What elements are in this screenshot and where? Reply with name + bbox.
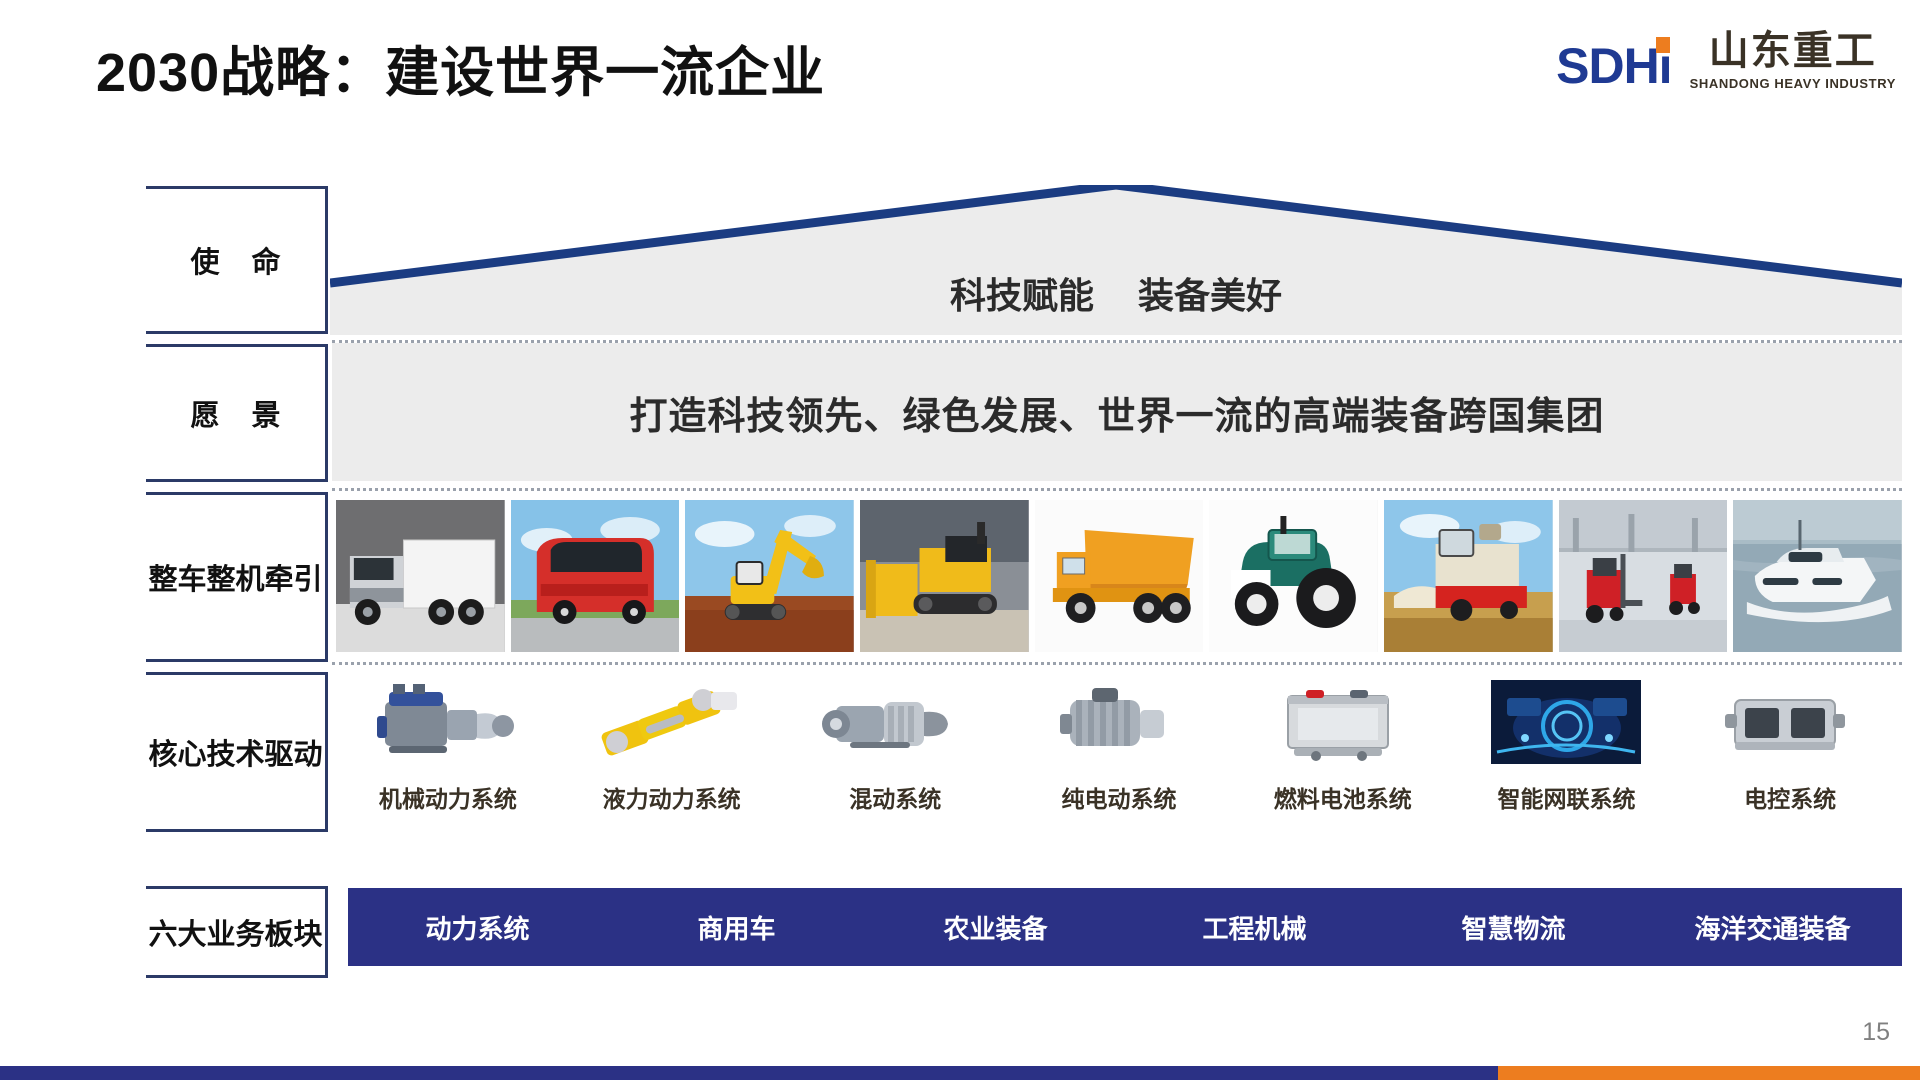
- divider-vision-vehicles: [332, 488, 1902, 491]
- vehicle-image-harvester: [1384, 500, 1553, 652]
- footer-bar-blue: [0, 1066, 1498, 1080]
- logo-sdhi-text: SDHi: [1556, 38, 1671, 94]
- heavy-truck-icon: [336, 500, 505, 652]
- logo-english-name: SHANDONG HEAVY INDUSTRY: [1690, 76, 1896, 91]
- tech-label-mechanical-power: 机械动力系统: [379, 780, 517, 814]
- vehicle-image-tractor: [1209, 500, 1378, 652]
- vehicle-image-coach-bus: [511, 500, 680, 652]
- bracket-vehicle-traction: 整车整机牵引: [146, 492, 328, 662]
- hybrid-powertrain-icon: [806, 672, 984, 772]
- ecu-controller-glyph: [1701, 672, 1879, 772]
- mission-statement: 科技赋能 装备美好: [330, 185, 1902, 335]
- tractor-icon: [1209, 500, 1378, 652]
- segment-power-system[interactable]: 动力系统: [348, 909, 607, 946]
- mining-dump-truck-icon: [1035, 500, 1204, 652]
- electric-motor-icon: [1030, 672, 1208, 772]
- business-segments-bar: 动力系统 商用车 农业装备 工程机械 智慧物流 海洋交通装备: [348, 888, 1902, 966]
- page-number: 15: [1862, 1018, 1890, 1047]
- tech-item-mechanical-power: 机械动力系统: [336, 672, 560, 820]
- forklift-warehouse-icon: [1559, 500, 1728, 652]
- logo-chinese-name: 山东重工: [1709, 30, 1877, 72]
- tech-item-pure-electric: 纯电动系统: [1007, 672, 1231, 820]
- vehicle-image-excavator: [685, 500, 854, 652]
- smart-cockpit-glyph: [1477, 672, 1655, 772]
- tech-item-hybrid: 混动系统: [783, 672, 1007, 820]
- vehicle-image-strip: [336, 500, 1902, 652]
- segment-commercial-vehicle[interactable]: 商用车: [607, 909, 866, 946]
- company-logo: SDHi 山东重工 SHANDONG HEAVY INDUSTRY: [1556, 30, 1896, 91]
- hydraulic-system-icon: [583, 672, 761, 772]
- vehicle-image-heavy-truck: [336, 500, 505, 652]
- tech-label-smart-connected: 智能网联系统: [1497, 780, 1635, 814]
- tech-label-ecu: 电控系统: [1744, 780, 1836, 814]
- electric-motor-glyph: [1030, 672, 1208, 772]
- tech-item-hydraulic-power: 液力动力系统: [560, 672, 784, 820]
- segment-smart-logistics[interactable]: 智慧物流: [1384, 909, 1643, 946]
- slide-canvas: 2030战略：建设世界一流企业 SDHi 山东重工 SHANDONG HEAVY…: [0, 0, 1920, 1080]
- row-label-vehicle-traction: 整车整机牵引: [148, 556, 322, 598]
- mission-phrase-2: 装备美好: [1138, 267, 1282, 319]
- row-label-brackets: 使 命 愿 景 整车整机牵引 核心技术驱动 六大业务板块: [0, 0, 330, 1080]
- logo-orange-dot-icon: [1656, 37, 1670, 53]
- fuel-cell-glyph: [1254, 672, 1432, 772]
- vehicle-image-mining-dump-truck: [1035, 500, 1204, 652]
- diesel-engine-glyph: [359, 672, 537, 772]
- vision-band: 打造科技领先、绿色发展、世界一流的高端装备跨国集团: [332, 343, 1902, 481]
- row-label-business-segments: 六大业务板块: [148, 911, 322, 953]
- yacht-icon: [1733, 500, 1902, 652]
- diesel-engine-icon: [359, 672, 537, 772]
- tech-label-hybrid: 混动系统: [849, 780, 941, 814]
- tech-label-fuel-cell: 燃料电池系统: [1274, 780, 1412, 814]
- hydraulic-system-glyph: [583, 672, 761, 772]
- segment-agricultural-equipment[interactable]: 农业装备: [866, 909, 1125, 946]
- bracket-business-segments: 六大业务板块: [146, 886, 328, 978]
- mission-phrase-1: 科技赋能: [950, 267, 1094, 319]
- harvester-icon: [1384, 500, 1553, 652]
- tech-item-smart-connected: 智能网联系统: [1455, 672, 1679, 820]
- excavator-icon: [685, 500, 854, 652]
- footer-bar-orange: [1498, 1066, 1920, 1080]
- logo-chinese-block: 山东重工 SHANDONG HEAVY INDUSTRY: [1690, 30, 1896, 91]
- smart-cockpit-icon: [1477, 672, 1655, 772]
- vehicle-image-yacht: [1733, 500, 1902, 652]
- segment-construction-machinery[interactable]: 工程机械: [1125, 909, 1384, 946]
- logo-sdhi-mark: SDHi: [1556, 41, 1671, 91]
- fuel-cell-icon: [1254, 672, 1432, 772]
- tech-label-pure-electric: 纯电动系统: [1062, 780, 1177, 814]
- row-label-vision: 愿 景: [178, 392, 292, 434]
- bracket-mission: 使 命: [146, 186, 328, 334]
- footer-bar: [0, 1066, 1920, 1080]
- hybrid-powertrain-glyph: [806, 672, 984, 772]
- bracket-vision: 愿 景: [146, 344, 328, 482]
- row-label-mission: 使 命: [178, 239, 292, 281]
- tech-label-hydraulic-power: 液力动力系统: [603, 780, 741, 814]
- bulldozer-icon: [860, 500, 1029, 652]
- tech-item-ecu: 电控系统: [1678, 672, 1902, 820]
- ecu-controller-icon: [1701, 672, 1879, 772]
- bracket-core-technology: 核心技术驱动: [146, 672, 328, 832]
- row-label-core-technology: 核心技术驱动: [148, 731, 322, 773]
- mission-roof: 科技赋能 装备美好: [330, 185, 1902, 335]
- core-technology-row: 机械动力系统 液力动力系统: [336, 672, 1902, 820]
- coach-bus-icon: [511, 500, 680, 652]
- vehicle-image-bulldozer: [860, 500, 1029, 652]
- vision-statement: 打造科技领先、绿色发展、世界一流的高端装备跨国集团: [629, 385, 1604, 440]
- segment-marine-transport-equipment[interactable]: 海洋交通装备: [1643, 909, 1902, 946]
- divider-vehicles-tech: [332, 662, 1902, 665]
- tech-item-fuel-cell: 燃料电池系统: [1231, 672, 1455, 820]
- vehicle-image-forklift-warehouse: [1559, 500, 1728, 652]
